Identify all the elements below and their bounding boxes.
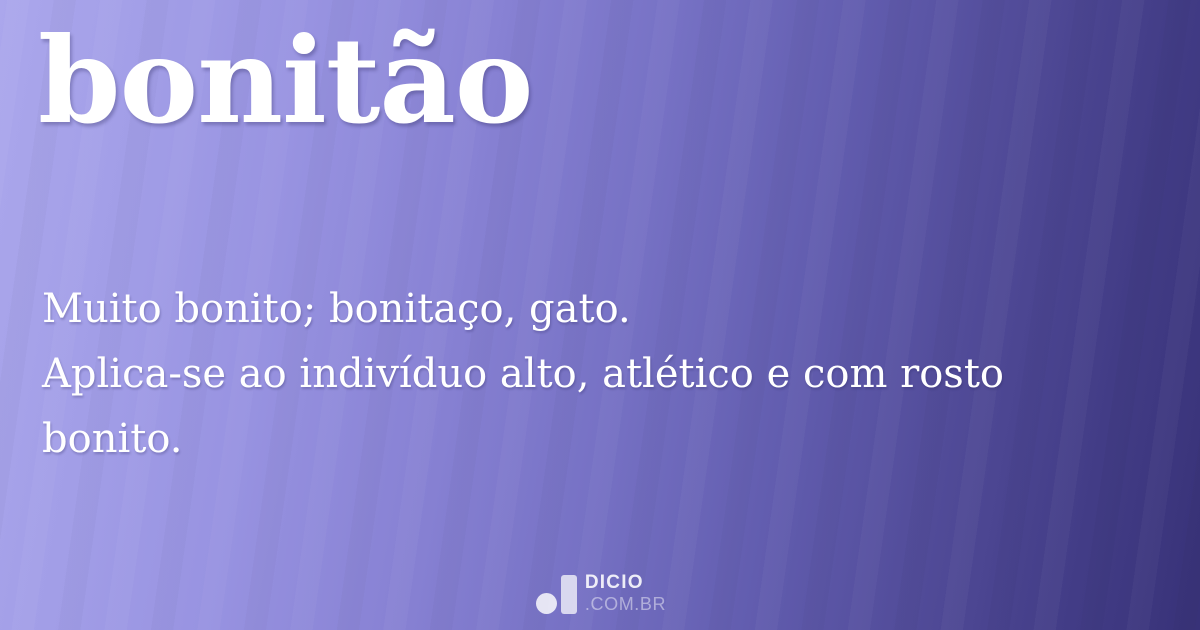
logo-bar-icon [561,575,577,614]
definition-line: Muito bonito; bonitaço, gato. [42,277,1152,342]
dicio-logo-text: DICIO .COM.BR [585,573,666,614]
definition-block: Muito bonito; bonitaço, gato. Aplica-se … [42,277,1152,472]
definition-line: Aplica-se ao indivíduo alto, atlético e … [42,342,1152,407]
dicio-logo-mark-icon [534,575,576,614]
logo-brand-tld: .COM.BR [585,595,666,613]
dicio-logo[interactable]: DICIO .COM.BR [0,573,1200,614]
card-content: bonitão Muito bonito; bonitaço, gato. Ap… [0,0,1200,630]
logo-circle-icon [536,593,557,614]
headword-title: bonitão [38,22,533,140]
definition-line: bonito. [42,407,1152,472]
logo-brand-name: DICIO [585,573,666,592]
definition-card: bonitão Muito bonito; bonitaço, gato. Ap… [0,0,1200,630]
